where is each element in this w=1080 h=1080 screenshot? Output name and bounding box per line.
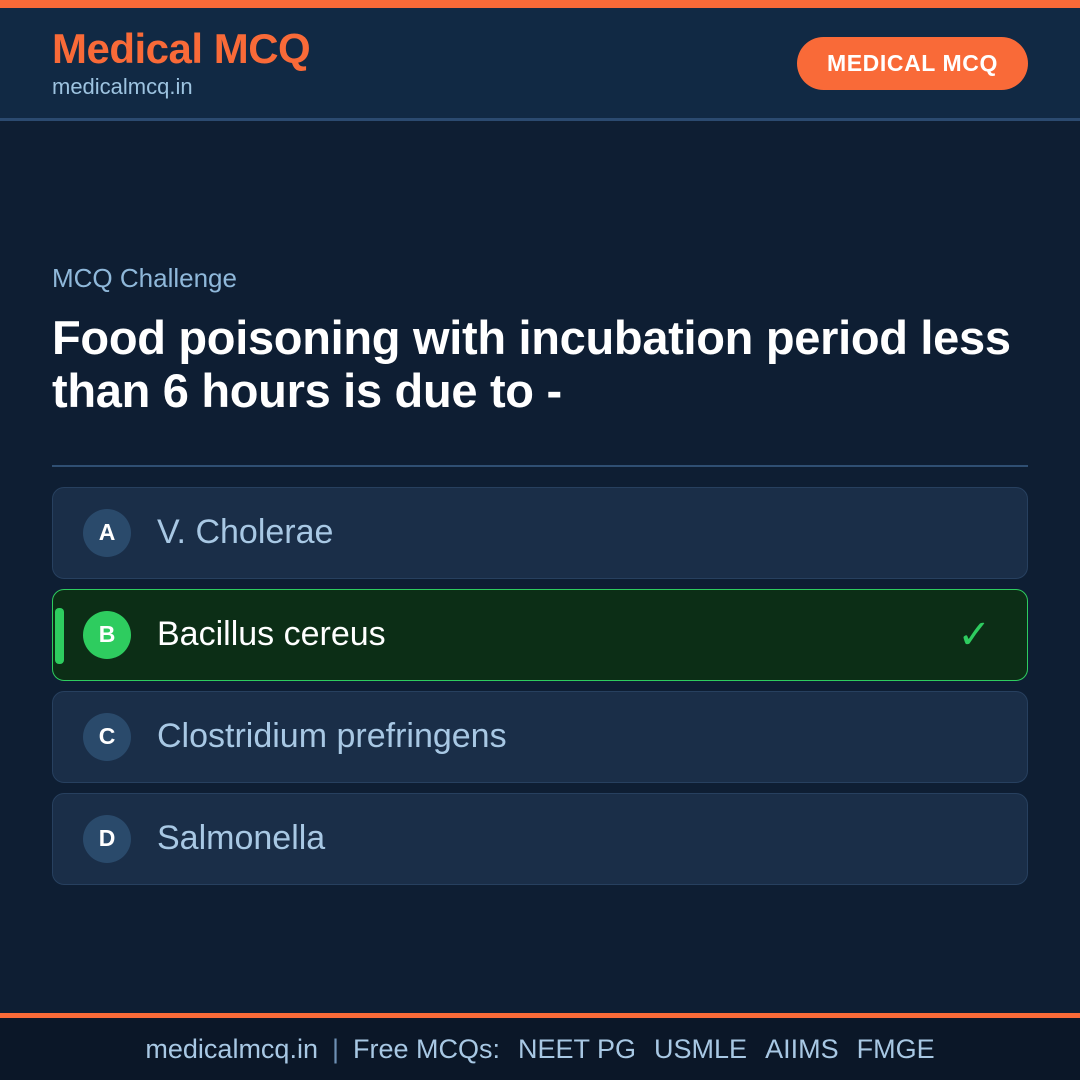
- question-text: Food poisoning with incubation period le…: [52, 311, 1028, 417]
- header-bar: Medical MCQ medicalmcq.in MEDICAL MCQ: [0, 8, 1080, 121]
- option-label: V. Cholerae: [157, 514, 333, 551]
- option-letter-badge: A: [83, 509, 131, 557]
- footer-exam-neetpg: NEET PG: [518, 1034, 636, 1065]
- option-b[interactable]: B Bacillus cereus ✓: [52, 589, 1028, 681]
- footer-site[interactable]: medicalmcq.in: [145, 1034, 318, 1065]
- footer-prefix: Free MCQs:: [353, 1034, 500, 1065]
- brand-subtitle: medicalmcq.in: [52, 75, 310, 99]
- top-accent-strip: [0, 0, 1080, 8]
- footer-exam-aiims: AIIMS: [765, 1034, 839, 1065]
- footer-bar: medicalmcq.in | Free MCQs: NEET PG USMLE…: [0, 1013, 1080, 1080]
- option-label: Bacillus cereus: [157, 616, 386, 653]
- correct-accent-bar: [55, 608, 64, 664]
- option-d[interactable]: D Salmonella ✓: [52, 793, 1028, 885]
- option-letter-badge: B: [83, 611, 131, 659]
- footer-content: medicalmcq.in | Free MCQs: NEET PG USMLE…: [145, 1034, 934, 1065]
- option-letter-badge: C: [83, 713, 131, 761]
- brand-title: Medical MCQ: [52, 27, 310, 71]
- option-label: Salmonella: [157, 820, 325, 857]
- footer-separator: |: [332, 1034, 339, 1065]
- options-list: A V. Cholerae ✓ B Bacillus cereus ✓ C Cl…: [52, 487, 1028, 885]
- kicker-label: MCQ Challenge: [52, 264, 1028, 293]
- brand-block: Medical MCQ medicalmcq.in: [52, 27, 310, 99]
- footer-exam-fmge: FMGE: [857, 1034, 935, 1065]
- footer-exam-usmle: USMLE: [654, 1034, 747, 1065]
- option-c[interactable]: C Clostridium prefringens ✓: [52, 691, 1028, 783]
- option-label: Clostridium prefringens: [157, 718, 507, 755]
- header-badge: MEDICAL MCQ: [797, 37, 1028, 90]
- mcq-card: Medical MCQ medicalmcq.in MEDICAL MCQ MC…: [0, 0, 1080, 1080]
- option-a[interactable]: A V. Cholerae ✓: [52, 487, 1028, 579]
- section-divider: [52, 465, 1028, 467]
- check-icon: ✓: [957, 615, 991, 655]
- main-content: MCQ Challenge Food poisoning with incuba…: [0, 121, 1080, 1013]
- option-letter-badge: D: [83, 815, 131, 863]
